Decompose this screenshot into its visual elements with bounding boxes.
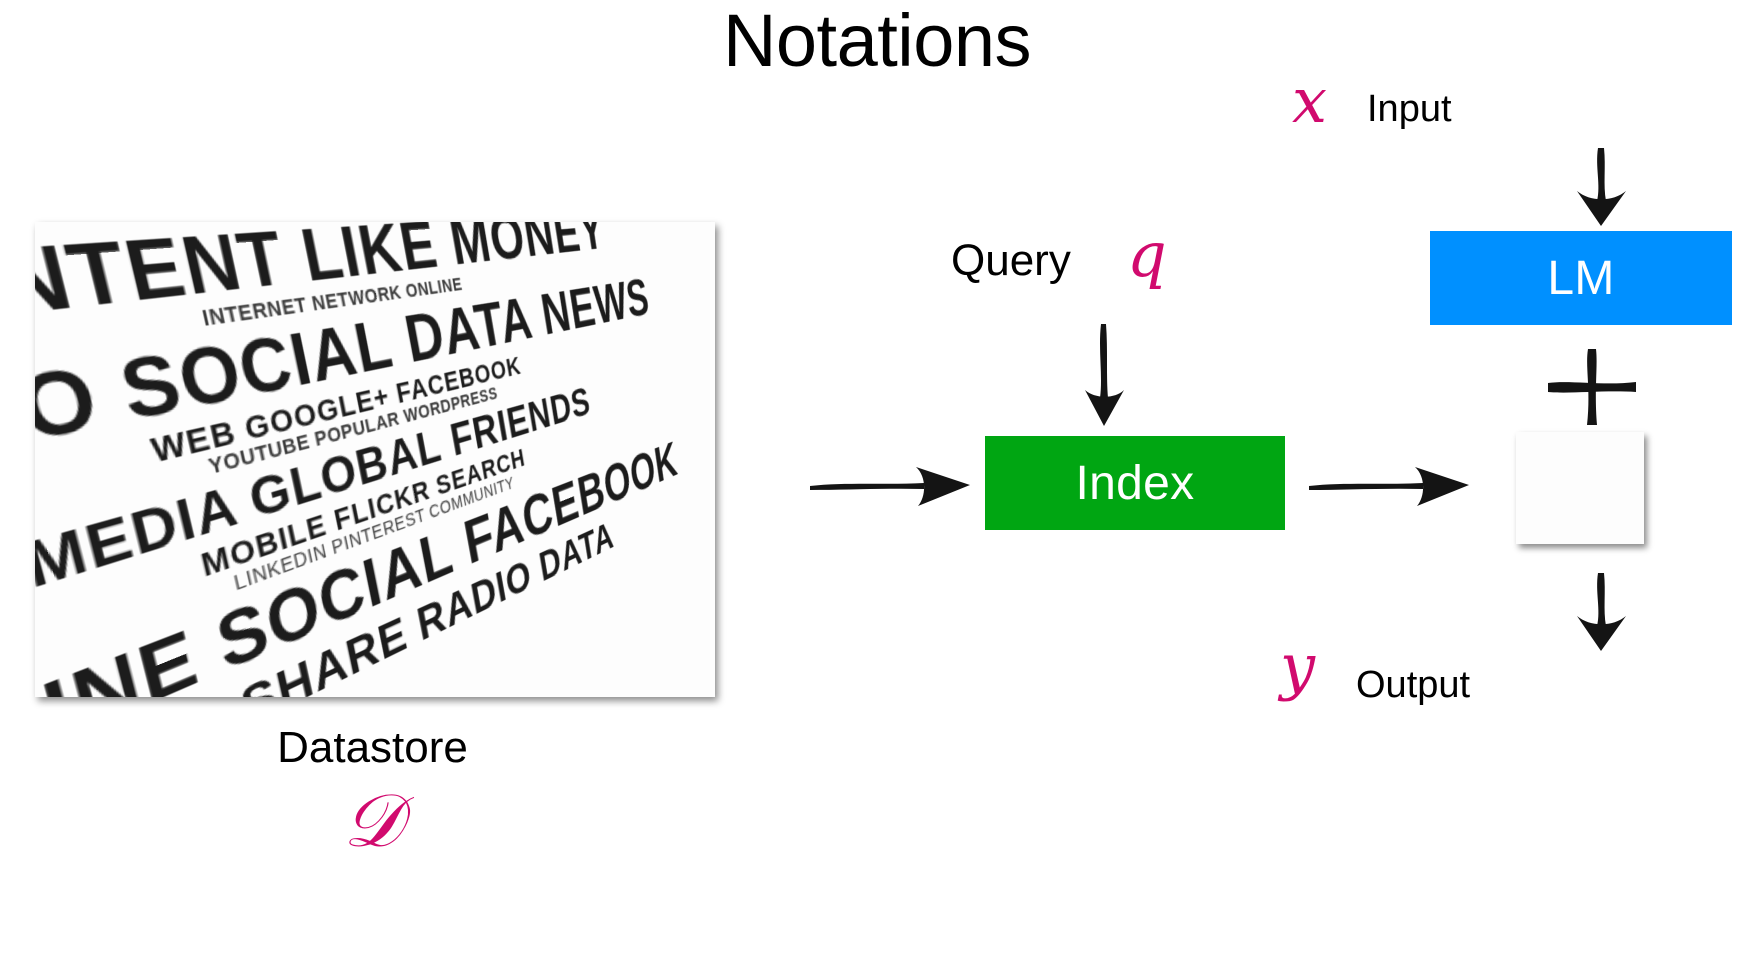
output-symbol: y — [1280, 636, 1315, 698]
index-box-label: Index — [1076, 456, 1195, 511]
index-box[interactable]: Index — [985, 436, 1285, 530]
lm-box-label: LM — [1547, 251, 1614, 306]
input-symbol: x — [1292, 70, 1327, 132]
wordcloud-row: COM — [1516, 432, 1644, 501]
datastore-symbol: 𝒟 — [0, 778, 745, 865]
arrow-retrieved-to-output-icon — [1565, 570, 1641, 654]
output-label: Output — [1356, 664, 1470, 707]
arrow-input-to-lm-icon — [1565, 145, 1641, 229]
lm-box[interactable]: LM — [1430, 231, 1732, 325]
wordcloud-text-layer: DATA NEWS SOCIAL GOOGLE+ FACEBOOK WEB YO… — [35, 222, 715, 697]
wordcloud-inner: DATA NEWS SOCIAL GOOGLE+ FACEBOOK WEB YO… — [35, 222, 684, 697]
retrieved-document-image: POP FRIEND MOBIL COM — [1516, 432, 1644, 544]
input-label: Input — [1367, 88, 1452, 131]
query-symbol: q — [1127, 224, 1167, 286]
retrieved-wordcloud-text-layer: POP FRIEND MOBIL COM — [1516, 432, 1644, 544]
plus-operator-icon — [1544, 345, 1640, 431]
arrow-index-to-retrieved-icon — [1305, 455, 1475, 513]
retrieved-wordcloud-inner: POP FRIEND MOBIL COM — [1516, 432, 1644, 544]
arrow-query-to-index-icon — [1075, 320, 1133, 430]
query-label: Query — [951, 236, 1071, 286]
page-title: Notations — [0, 4, 1754, 78]
arrow-datastore-to-index-icon — [806, 455, 976, 513]
datastore-image: DATA NEWS SOCIAL GOOGLE+ FACEBOOK WEB YO… — [35, 222, 715, 697]
datastore-caption: Datastore — [0, 723, 745, 773]
